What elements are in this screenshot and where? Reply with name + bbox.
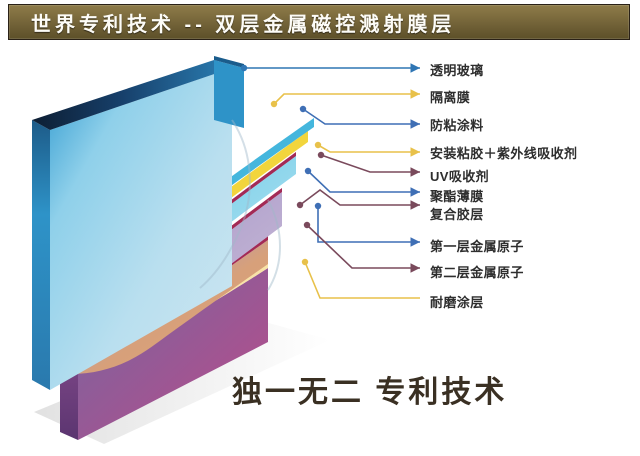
slogan-text: 独一无二 专利技术 xyxy=(232,367,507,411)
label-metal-atom-layer-2: 第二层金属原子 xyxy=(430,266,524,279)
label-metal-atom-layer-1: 第一层金属原子 xyxy=(430,240,524,253)
title-bar: 世界专利技术 -- 双层金属磁控溅射膜层 xyxy=(8,4,630,40)
label-anti-stick-coating: 防粘涂料 xyxy=(430,119,484,132)
label-transparent-glass: 透明玻璃 xyxy=(430,64,484,77)
label-polyester-film: 聚酯薄膜 xyxy=(430,190,484,203)
label-composite-adhesive: 复合胶层 xyxy=(430,208,484,221)
page-title: 世界专利技术 -- 双层金属磁控溅射膜层 xyxy=(31,8,455,37)
label-uv-absorber: UV吸收剂 xyxy=(430,170,489,183)
label-isolation-film: 隔离膜 xyxy=(430,91,470,104)
infographic-page: 世界专利技术 -- 双层金属磁控溅射膜层 xyxy=(0,0,640,456)
label-adhesive-uv-absorber: 安装粘胶＋紫外线吸收剂 xyxy=(430,147,577,160)
glass-right-edge xyxy=(214,56,244,128)
label-wear-resistant-coating: 耐磨涂层 xyxy=(430,296,484,309)
